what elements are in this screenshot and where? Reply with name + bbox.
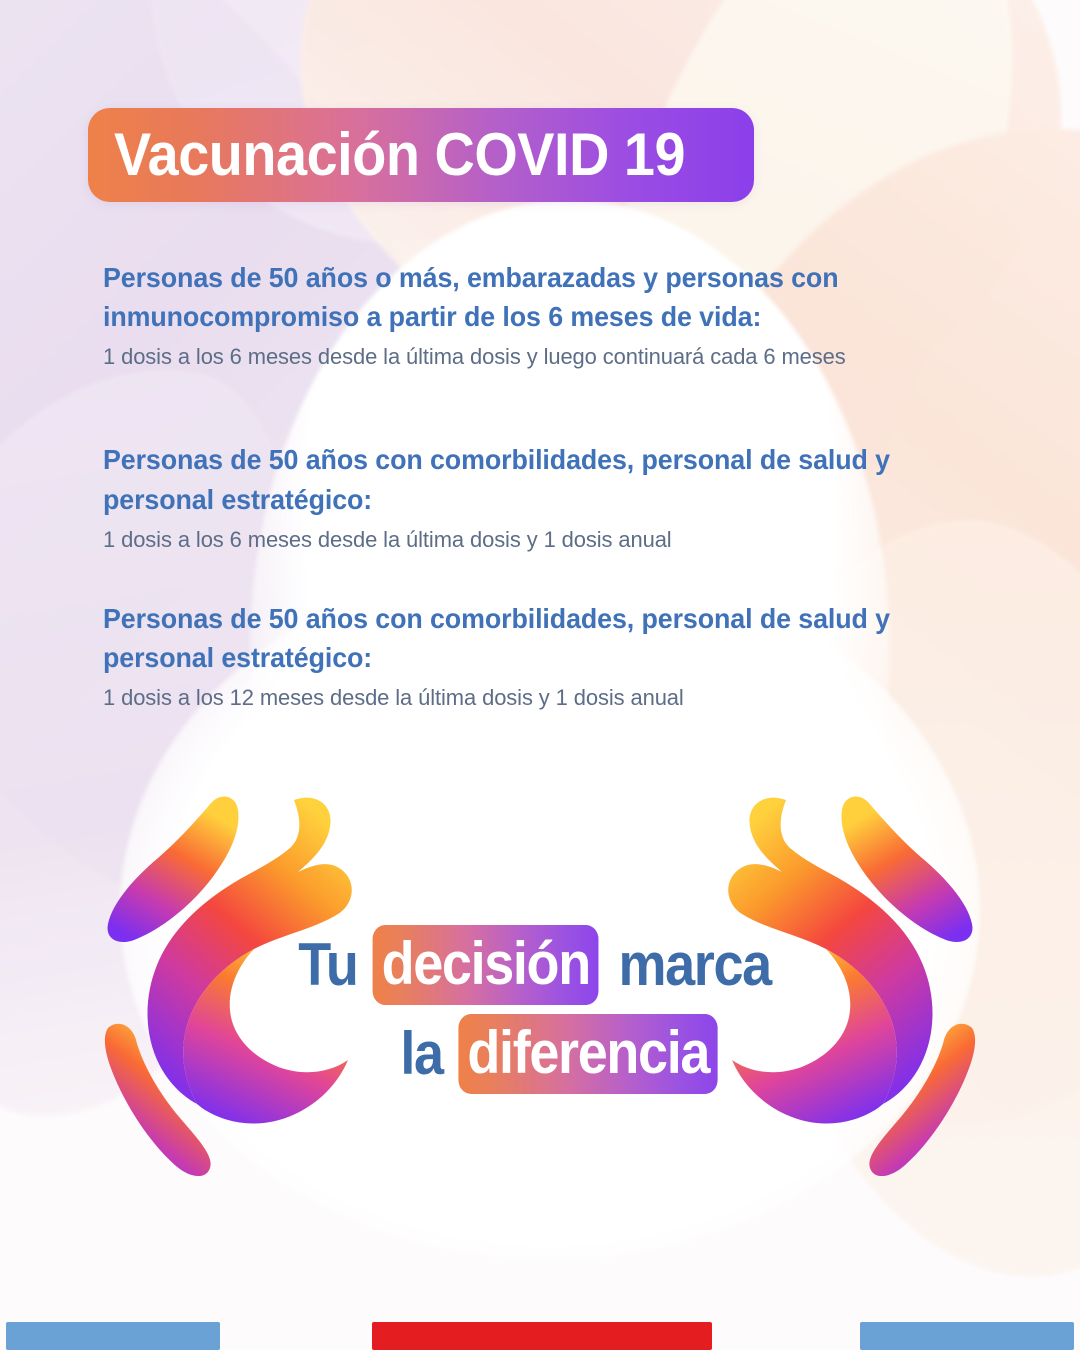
slogan-line-1: Tu decisión marca [294,925,781,1005]
dose-schedule-item: Personas de 50 años o más, embarazadas y… [103,258,993,372]
slogan-line-2: la diferencia [397,1014,731,1094]
dose-schedule-list: Personas de 50 años o más, embarazadas y… [103,258,993,713]
dose-schedule-item: Personas de 50 años con comorbilidades, … [103,599,993,713]
title-banner: Vacunación COVID 19 [88,108,754,202]
dose-group-detail: 1 dosis a los 6 meses desde la última do… [103,342,971,372]
dose-group-detail: 1 dosis a los 12 meses desde la última d… [103,683,971,713]
dose-group-detail: 1 dosis a los 6 meses desde la última do… [103,525,971,555]
slogan-word-la: la [400,1024,444,1084]
dose-group-heading: Personas de 50 años con comorbilidades, … [103,599,971,677]
page-title: Vacunación COVID 19 [114,125,685,185]
dose-schedule-item: Personas de 50 años con comorbilidades, … [103,440,993,554]
slogan: Tu decisión marca la diferencia [0,925,1080,1094]
bottom-bar-left-blue [6,1322,220,1350]
dose-group-heading: Personas de 50 años o más, embarazadas y… [103,258,971,336]
dose-group-heading: Personas de 50 años con comorbilidades, … [103,440,971,518]
bottom-bar-strip [0,1322,1080,1350]
bottom-bar-center-red [372,1322,712,1350]
slogan-word-decision: decisión [372,925,598,1005]
slogan-word-tu: Tu [297,935,358,995]
slogan-word-marca: marca [618,935,772,995]
poster-canvas: Vacunación COVID 19 Personas de 50 años … [0,0,1080,1350]
slogan-word-diferencia: diferencia [459,1014,719,1094]
content-layer: Vacunación COVID 19 Personas de 50 años … [0,0,1080,1350]
bottom-bar-right-blue [860,1322,1074,1350]
